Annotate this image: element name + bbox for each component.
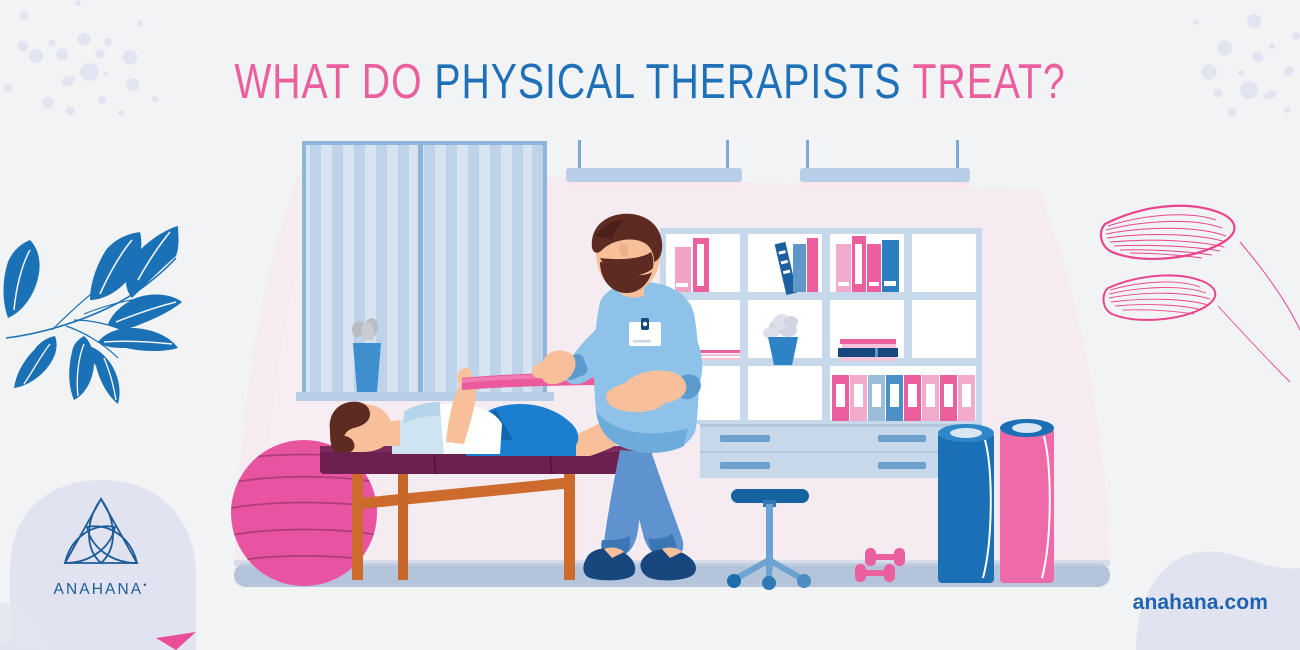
title-part-2: PHYSICAL THERAPISTS — [434, 55, 901, 109]
site-url[interactable]: anahana.com — [1133, 591, 1268, 615]
title-part-3: TREAT? — [901, 55, 1065, 109]
yoga-mat-pink — [1000, 419, 1054, 583]
windowsill-plant — [352, 318, 381, 392]
yoga-mat-blue — [938, 424, 994, 583]
bookshelf — [660, 228, 982, 424]
name-badge — [629, 318, 661, 346]
triquetra-logo-icon — [57, 493, 145, 575]
window-with-blinds — [296, 141, 554, 401]
brand-logo[interactable]: ANAHANA• — [38, 493, 164, 599]
ceiling-light-left — [566, 140, 742, 189]
ceiling-light-right — [800, 140, 970, 189]
brand-wordmark: ANAHANA• — [38, 580, 164, 599]
wordmark-text: ANAHANA — [54, 581, 144, 598]
page-title: WHAT DO PHYSICAL THERAPISTS TREAT? — [130, 57, 1170, 108]
trademark-symbol: • — [143, 580, 148, 590]
title-part-1: WHAT DO — [234, 55, 434, 109]
poster-canvas: WHAT DO PHYSICAL THERAPISTS TREAT? ANAHA… — [0, 0, 1300, 650]
